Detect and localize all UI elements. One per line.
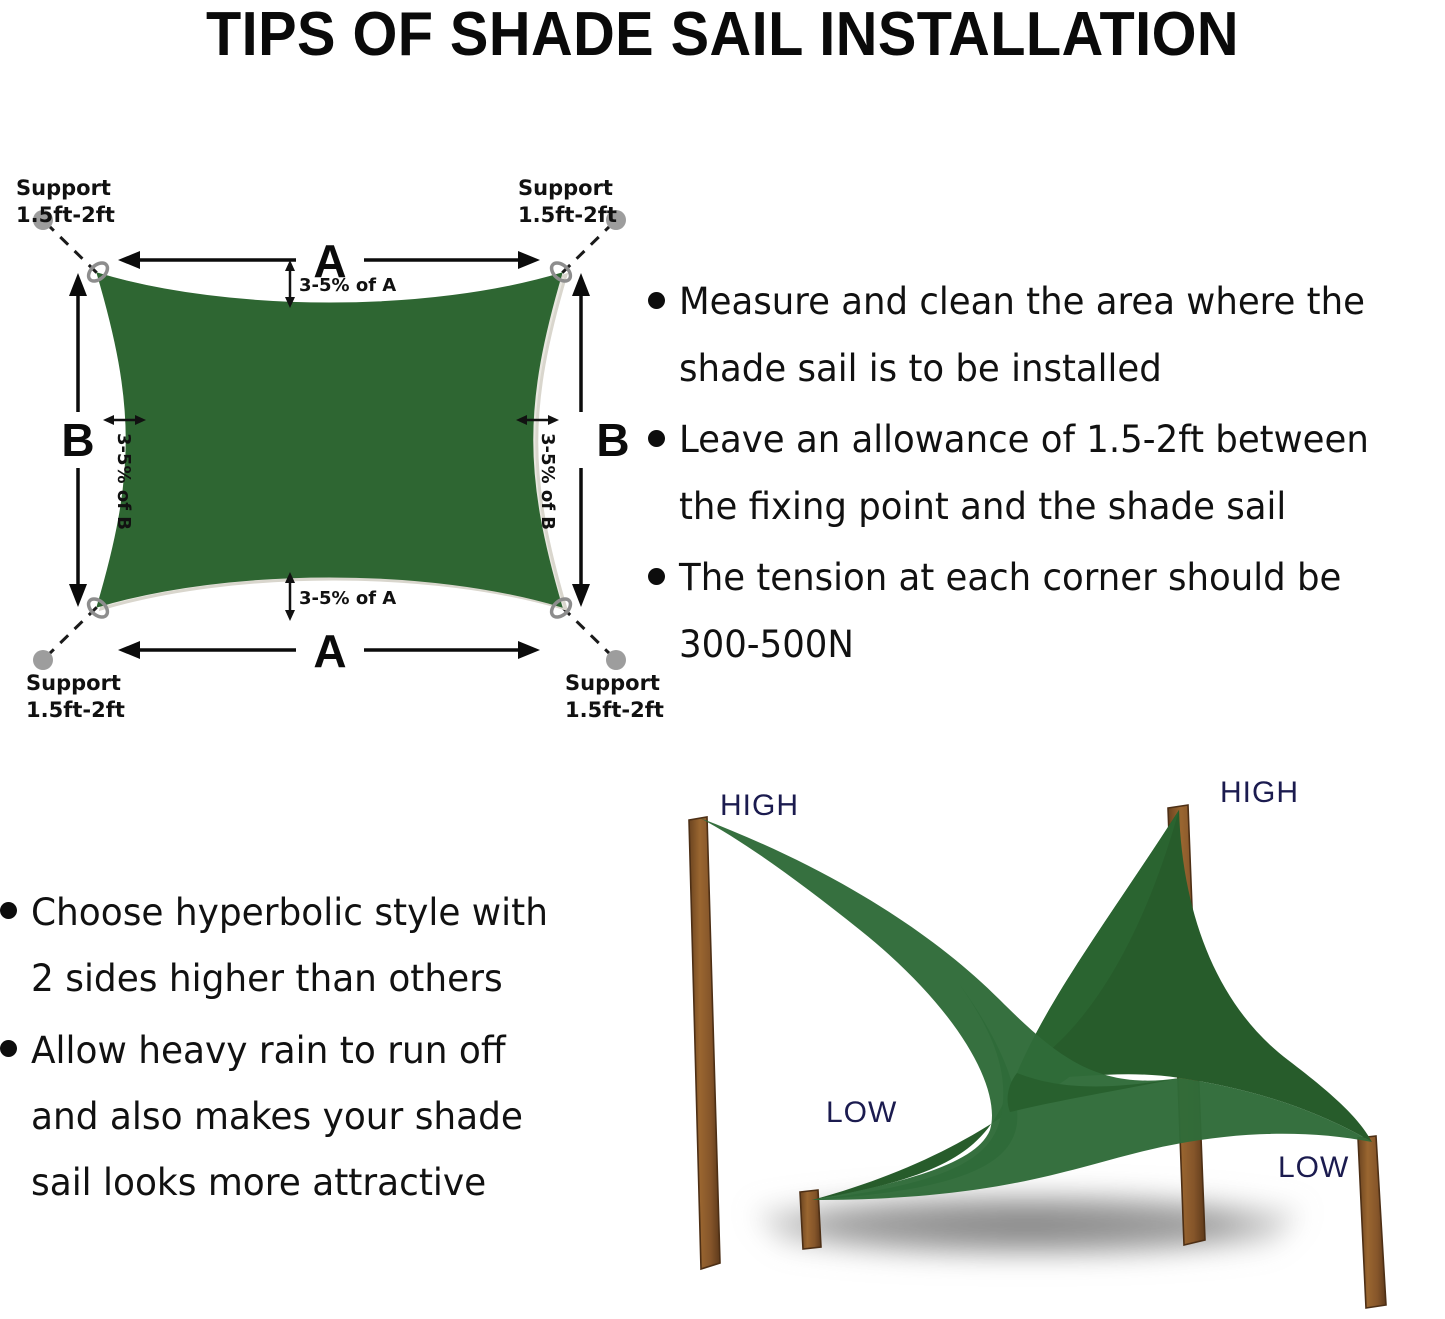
callout-label-curve-left: 3-5% of B xyxy=(113,433,134,530)
installation-tips-right: Measure and clean the area where the sha… xyxy=(648,268,1445,668)
callout-right-arrow-end xyxy=(548,415,559,425)
support-label-top-right-line1: Support xyxy=(518,176,613,200)
dim-top-arrow-right xyxy=(518,251,540,269)
hypar-panel-light xyxy=(700,818,1372,1200)
tip-text: Choose hyperbolic style with 2 sides hig… xyxy=(31,880,607,1012)
rectangular-sail-diagram: A 3-5% of A A 3-5% of A xyxy=(0,150,660,730)
tips-right-list: Measure and clean the area where the sha… xyxy=(648,268,1445,678)
shade-sail-body xyxy=(97,273,562,607)
callout-label-curve-top: 3-5% of A xyxy=(299,275,396,296)
support-label-bottom-left-line2: 1.5ft-2ft xyxy=(26,698,125,722)
callout-label-curve-bottom: 3-5% of A xyxy=(299,588,396,609)
list-item: Leave an allowance of 1.5-2ft between th… xyxy=(648,406,1445,540)
bullet-dot-icon xyxy=(0,1040,17,1057)
tips-left-list: Choose hyperbolic style with 2 sides hig… xyxy=(0,880,625,1216)
support-label-top-left-line1: Support xyxy=(16,176,111,200)
label-post-right-high: HIGH xyxy=(1220,776,1299,809)
bullet-dot-icon xyxy=(648,292,665,309)
tether-bottom-right xyxy=(562,607,613,657)
shadow-shape xyxy=(735,1192,1320,1258)
support-label-bottom-right-line1: Support xyxy=(565,671,660,695)
dim-label-height-left: B xyxy=(61,414,94,466)
support-label-top-right-line2: 1.5ft-2ft xyxy=(518,203,617,227)
anchor-dot-bottom-left xyxy=(33,650,53,670)
tip-text: Measure and clean the area where the sha… xyxy=(679,268,1417,402)
callout-bottom-arrow-down xyxy=(285,610,295,621)
dim-label-width-bottom: A xyxy=(313,625,346,677)
dim-bottom-arrow-right xyxy=(518,641,540,659)
ground-shadow xyxy=(735,1192,1320,1258)
list-item: The tension at each corner should be 300… xyxy=(648,544,1445,678)
callout-left-arrow-start xyxy=(103,415,114,425)
support-label-bottom-left-line1: Support xyxy=(26,671,121,695)
callout-label-curve-right: 3-5% of B xyxy=(537,433,558,530)
label-post-right-low: LOW xyxy=(1278,1151,1349,1184)
tip-text: Leave an allowance of 1.5-2ft between th… xyxy=(679,406,1417,540)
list-item: Measure and clean the area where the sha… xyxy=(648,268,1445,402)
dim-right-arrow-down xyxy=(572,584,590,607)
bullet-dot-icon xyxy=(648,430,665,447)
post-right-low xyxy=(1358,1136,1386,1308)
tether-top-right xyxy=(562,223,613,273)
post-left-high xyxy=(689,817,720,1269)
label-post-left-high: HIGH xyxy=(720,789,799,822)
dim-label-height-right: B xyxy=(596,414,629,466)
dim-left-arrow-down xyxy=(69,584,87,607)
bullet-dot-icon xyxy=(648,568,665,585)
dimension-height-right xyxy=(572,273,590,607)
support-label-top-left-line2: 1.5ft-2ft xyxy=(16,203,115,227)
hyperbolic-sail-diagram: HIGH HIGH LOW LOW xyxy=(660,760,1445,1319)
dim-right-arrow-up xyxy=(572,273,590,296)
list-item: Choose hyperbolic style with 2 sides hig… xyxy=(0,880,625,1012)
list-item: Allow heavy rain to run off and also mak… xyxy=(0,1018,625,1216)
dim-left-arrow-up xyxy=(69,273,87,296)
tether-bottom-left xyxy=(46,607,97,657)
dim-top-arrow-left xyxy=(118,251,140,269)
page-title: TIPS OF SHADE SAIL INSTALLATION xyxy=(51,0,1395,68)
tether-top-left xyxy=(46,223,97,273)
tip-text: The tension at each corner should be 300… xyxy=(679,544,1417,678)
dim-bottom-arrow-left xyxy=(118,641,140,659)
installation-tips-left: Choose hyperbolic style with 2 sides hig… xyxy=(0,880,625,1210)
tip-text: Allow heavy rain to run off and also mak… xyxy=(31,1018,607,1216)
label-post-left-low: LOW xyxy=(826,1096,897,1129)
support-label-bottom-right-line2: 1.5ft-2ft xyxy=(565,698,664,722)
callout-curve-top xyxy=(285,260,295,308)
anchor-dot-bottom-right xyxy=(606,650,626,670)
bullet-dot-icon xyxy=(0,902,17,919)
